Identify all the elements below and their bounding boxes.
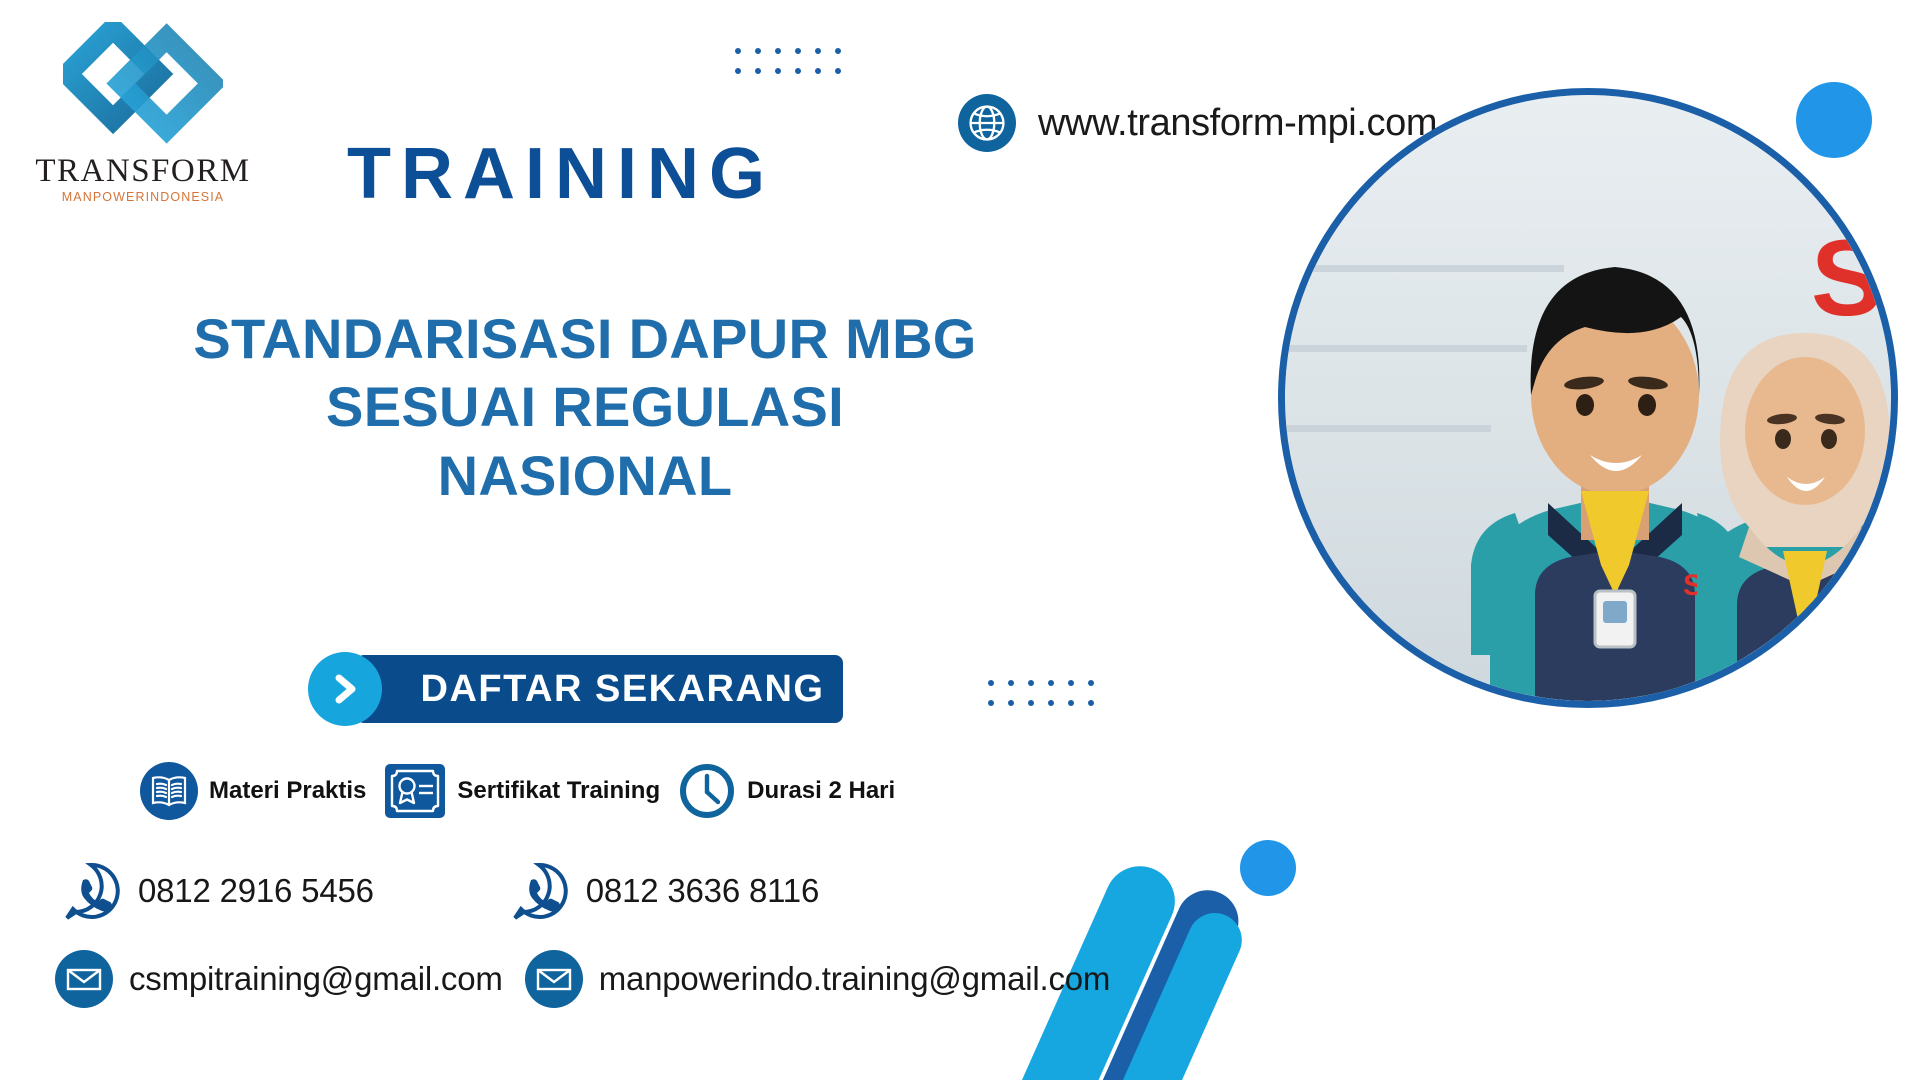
transform-diamond-icon [63,22,223,152]
envelope-icon [525,950,583,1008]
email-contacts-row: csmpitraining@gmail.com manpowerindo.tra… [55,950,1110,1008]
email-address: manpowerindo.training@gmail.com [599,960,1111,998]
phone-contact-1[interactable]: 0812 2916 5456 [60,860,374,922]
decorative-circle-bottom [1240,840,1296,896]
logo-wordmark: TRANSFORM [28,154,258,189]
phone-number: 0812 3636 8116 [586,872,819,910]
company-logo: TRANSFORM MANPOWERINDONESIA [28,22,258,204]
envelope-icon [55,950,113,1008]
logo-tagline: MANPOWERINDONESIA [28,190,258,204]
certificate-award-icon [384,762,446,820]
feature-durasi: Durasi 2 Hari [678,762,895,820]
phone-contact-2[interactable]: 0812 3636 8116 [508,860,819,922]
feature-label: Durasi 2 Hari [747,777,895,805]
training-promo-banner: TRANSFORM MANPOWERINDONESIA www.transfor… [0,0,1920,1080]
whatsapp-phone-icon [508,860,570,922]
email-contact-1[interactable]: csmpitraining@gmail.com [55,950,503,1008]
eyebrow-title: TRAINING [347,133,775,215]
staff-illustration: SPPG [1285,95,1891,701]
register-now-button[interactable]: DAFTAR SEKARANG [308,655,843,723]
open-book-icon [140,762,198,820]
decorative-dot-grid-top [735,48,841,74]
feature-materi-praktis: Materi Praktis [140,762,366,820]
feature-label: Materi Praktis [209,777,366,805]
phone-number: 0812 2916 5456 [138,872,374,910]
whatsapp-phone-icon [60,860,122,922]
globe-icon [958,94,1016,152]
phone-contacts-row: 0812 2916 5456 0812 3636 8116 [60,860,819,922]
email-contact-2[interactable]: manpowerindo.training@gmail.com [525,950,1111,1008]
female-staff: SPPG [1697,333,1891,701]
staff-photo: S [1278,88,1898,708]
cta-label: DAFTAR SEKARANG [375,668,825,711]
email-address: csmpitraining@gmail.com [129,960,503,998]
features-row: Materi Praktis Sertifikat Training [140,762,895,820]
feature-sertifikat-training: Sertifikat Training [384,762,660,820]
clock-icon [678,762,736,820]
photo-inner: S [1285,95,1891,701]
cta-bar: DAFTAR SEKARANG [356,655,843,723]
page-title: STANDARISASI DAPUR MBG SESUAI REGULASI N… [175,305,995,510]
chevron-right-icon [308,652,382,726]
decorative-dot-grid-middle [988,680,1094,706]
feature-label: Sertifikat Training [457,777,660,805]
svg-text:SPPG: SPPG [1871,608,1891,639]
